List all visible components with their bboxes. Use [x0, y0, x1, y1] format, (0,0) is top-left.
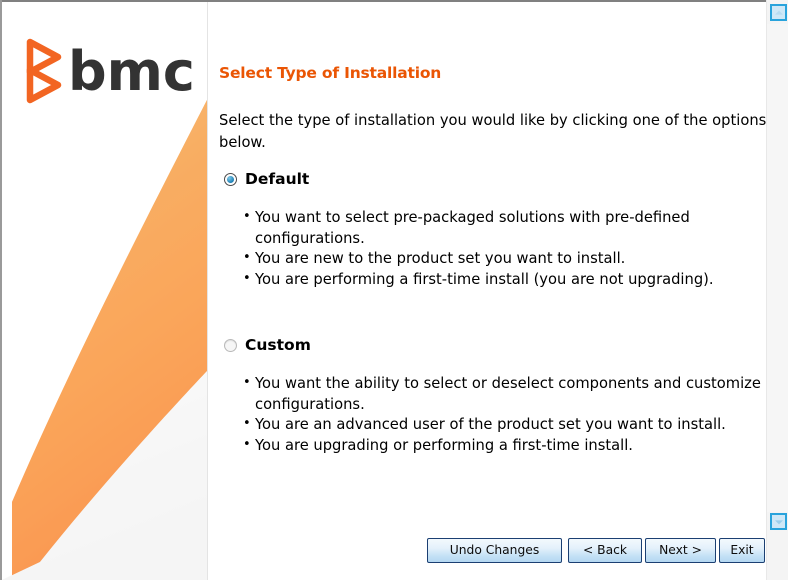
- installer-window: bmc Select Type of Installation Select t…: [0, 0, 788, 580]
- list-item: You are an advanced user of the product …: [219, 415, 767, 436]
- bmc-wordmark: bmc: [68, 40, 195, 103]
- option-default-label: Default: [245, 170, 309, 188]
- option-default-bullets: You want to select pre-packaged solution…: [219, 208, 767, 290]
- undo-changes-button[interactable]: Undo Changes: [427, 538, 562, 563]
- scrollbar-track[interactable]: [767, 24, 788, 512]
- triangle-up-icon[interactable]: [770, 4, 787, 21]
- option-default[interactable]: Default You want to select pre-packaged …: [219, 170, 767, 276]
- branding-artwork: bmc: [2, 2, 208, 580]
- radio-default[interactable]: [224, 173, 237, 186]
- list-item: You want to select pre-packaged solution…: [219, 208, 767, 249]
- triangle-down-icon[interactable]: [770, 513, 787, 530]
- next-button[interactable]: Next >: [645, 538, 716, 563]
- list-item: You are performing a first-time install …: [219, 270, 767, 291]
- option-default-header[interactable]: Default: [219, 170, 767, 194]
- button-bar: Undo Changes < Back Next > Exit: [208, 538, 766, 570]
- list-item: You want the ability to select or desele…: [219, 374, 767, 415]
- branding-panel: bmc: [2, 2, 208, 580]
- back-button[interactable]: < Back: [568, 538, 642, 563]
- intro-text: Select the type of installation you woul…: [219, 110, 781, 154]
- option-custom-header[interactable]: Custom: [219, 336, 767, 360]
- option-custom-bullets: You want the ability to select or desele…: [219, 374, 767, 456]
- option-custom[interactable]: Custom You want the ability to select or…: [219, 336, 767, 442]
- vertical-scrollbar[interactable]: [766, 0, 788, 580]
- page-title: Select Type of Installation: [219, 64, 441, 82]
- list-item: You are upgrading or performing a first-…: [219, 436, 767, 457]
- exit-button[interactable]: Exit: [719, 538, 765, 563]
- radio-custom[interactable]: [224, 339, 237, 352]
- content-pane: Select Type of Installation Select the t…: [208, 2, 766, 580]
- option-custom-label: Custom: [245, 336, 311, 354]
- list-item: You are new to the product set you want …: [219, 249, 767, 270]
